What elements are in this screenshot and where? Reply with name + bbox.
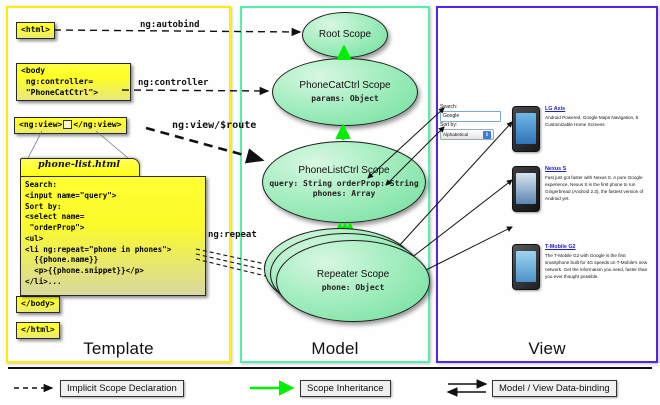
view-search-label: Search:	[440, 104, 457, 110]
note-code: Search: <input name="query"> Sort by: <s…	[20, 176, 206, 296]
view-mock: Search: Google Sort by: Alphabetical ⇕ L…	[438, 8, 652, 352]
scope-phonecatctrl-name: PhoneCatCtrl Scope	[299, 80, 390, 92]
chevron-updown-icon: ⇕	[483, 131, 491, 139]
phone-text-2: T-Mobile G2 The T-Mobile G2 with Google …	[545, 244, 651, 281]
view-search-input[interactable]: Google	[440, 111, 501, 122]
label-ng-view-route: ng:view/$route	[172, 120, 256, 131]
phone-link-1[interactable]: Nexus S	[545, 166, 651, 172]
template-note-phone-list: phone-list.html Search: <input name="que…	[20, 158, 198, 294]
ngview-close-tag: </ng:view>	[73, 120, 121, 129]
phone-screen	[516, 173, 536, 204]
scope-phonecatctrl-props: params: Object	[311, 94, 378, 104]
scope-repeater-front: Repeater Scope phone: Object	[276, 240, 430, 322]
legend-implicit-scope-declaration: Implicit Scope Declaration	[60, 380, 184, 397]
phone-snippet-1: Fast just got faster with Nexus S. A pur…	[545, 175, 651, 203]
scope-phonecatctrl: PhoneCatCtrl Scope params: Object	[272, 58, 418, 126]
scope-phonelistctrl: PhoneListCtrl Scope query: String orderP…	[262, 141, 426, 223]
code-box-html-close: </html>	[16, 322, 60, 339]
phone-text-1: Nexus S Fast just got faster with Nexus …	[545, 166, 651, 203]
code-box-body-close: </body>	[16, 296, 60, 313]
scope-repeater-props: phone: Object	[322, 283, 385, 293]
scope-root-name: Root Scope	[319, 29, 371, 41]
legend-model-view-data-binding: Model / View Data-binding	[492, 380, 617, 397]
code-box-html-open: <html>	[16, 22, 55, 39]
diagram-canvas: Template Model View <html> <body ng:cont…	[0, 0, 660, 405]
label-ng-repeat: ng:repeat	[208, 230, 257, 240]
scope-phonelistctrl-props: query: String orderProp: String phones: …	[263, 179, 425, 199]
code-box-body-open: <body ng:controller= "PhoneCatCtrl">	[16, 63, 131, 101]
phone-text-0: LG Axis Android Powered, Google Maps Nav…	[545, 106, 651, 129]
phone-snippet-2: The T-Mobile G2 with Google is the first…	[545, 253, 651, 281]
legend-scope-inheritance: Scope Inheritance	[300, 380, 391, 397]
phone-snippet-0: Android Powered, Google Maps Navigation,…	[545, 115, 651, 129]
scope-phonelistctrl-name: PhoneListCtrl Scope	[298, 165, 389, 177]
code-box-ngview: <ng:view></ng:view>	[14, 117, 127, 134]
note-filename: phone-list.html	[20, 159, 138, 170]
column-model-label: Model	[242, 339, 428, 359]
placeholder-square-icon	[63, 120, 72, 129]
phone-image-nexus-s	[512, 166, 540, 212]
phone-image-lg-axis	[512, 106, 540, 152]
phone-screen	[516, 251, 536, 282]
legend-divider	[8, 367, 652, 369]
label-ng-autobind: ng:autobind	[140, 20, 200, 30]
ngview-open-tag: <ng:view>	[19, 120, 62, 129]
scope-root: Root Scope	[302, 12, 388, 58]
phone-image-tmobile-g2	[512, 244, 540, 290]
scope-repeater-name: Repeater Scope	[317, 269, 389, 281]
view-sort-label: Sort by:	[440, 122, 457, 128]
view-sort-value: Alphabetical	[443, 130, 468, 139]
label-ng-controller: ng:controller	[138, 78, 208, 88]
phone-link-2[interactable]: T-Mobile G2	[545, 244, 651, 250]
column-template-label: Template	[8, 339, 229, 359]
phone-link-0[interactable]: LG Axis	[545, 106, 651, 112]
phone-screen	[516, 113, 536, 144]
view-sort-select[interactable]: Alphabetical ⇕	[440, 129, 494, 140]
